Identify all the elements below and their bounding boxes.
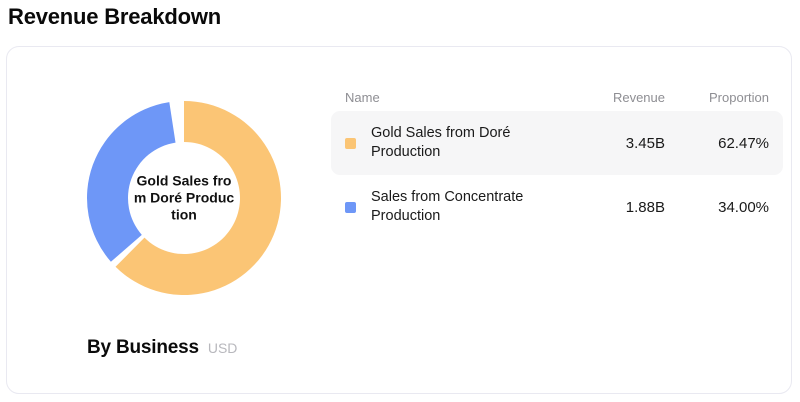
column-header-revenue: Revenue [561, 90, 665, 105]
legend-row-name: Sales from Concentrate Production [371, 188, 561, 226]
chart-footer-label: By Business [87, 337, 199, 359]
legend-row[interactable]: Sales from Concentrate Production1.88B34… [331, 175, 783, 239]
donut-chart: Gold Sales from Doré Production [81, 95, 287, 301]
donut-chart-svg [81, 95, 287, 301]
legend-row[interactable]: Gold Sales from Doré Production3.45B62.4… [331, 111, 783, 175]
legend-header-row: Name Revenue Proportion [331, 83, 783, 111]
legend-table: Name Revenue Proportion Gold Sales from … [331, 83, 783, 239]
revenue-breakdown-card: Gold Sales from Doré Production By Busin… [6, 46, 792, 394]
column-header-proportion: Proportion [665, 90, 769, 105]
legend-row-name: Gold Sales from Doré Production [371, 124, 561, 162]
legend-row-revenue: 3.45B [561, 135, 665, 152]
chart-footer-unit: USD [208, 340, 238, 356]
legend-row-revenue: 1.88B [561, 199, 665, 216]
legend-color-swatch-icon [345, 202, 356, 213]
page-title: Revenue Breakdown [8, 2, 221, 32]
legend-row-proportion: 62.47% [665, 135, 769, 152]
column-header-name: Name [345, 90, 561, 105]
chart-footer: By Business USD [87, 337, 237, 359]
legend-row-proportion: 34.00% [665, 199, 769, 216]
legend-color-swatch-icon [345, 138, 356, 149]
donut-slice[interactable] [87, 102, 176, 262]
